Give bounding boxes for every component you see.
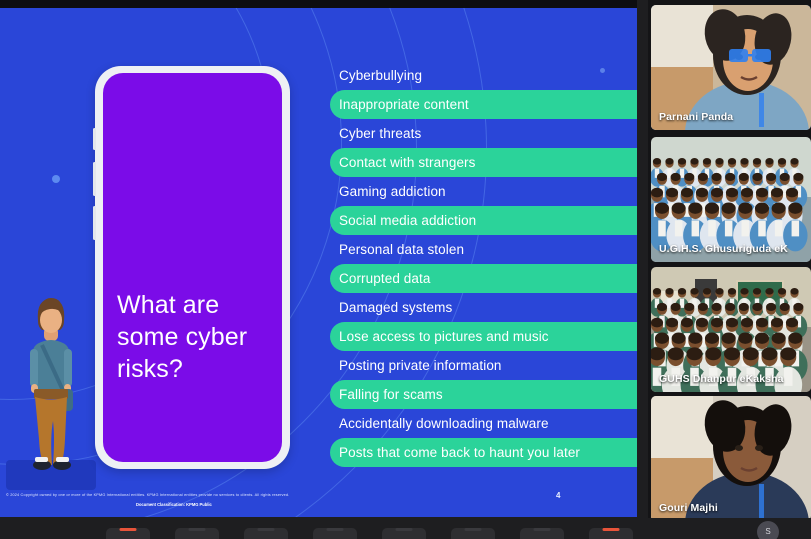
slide-title: What are some cyber risks? (117, 289, 267, 385)
phone-volume-down-button (93, 206, 96, 240)
risk-item: Posting private information (330, 351, 637, 380)
risk-item: Falling for scams (330, 380, 637, 409)
risk-item: Corrupted data (330, 264, 637, 293)
risk-item: Posts that come back to haunt you later (330, 438, 637, 467)
slide-page-number: 4 (556, 491, 560, 500)
slide-footer: © 2024 Copyright owned by one or more of… (0, 490, 637, 517)
toolbar-chat-button[interactable] (382, 528, 426, 539)
decorative-dot (52, 175, 60, 183)
participant-tile[interactable]: U.G.H.S. Ghusuriguda eK (651, 137, 811, 262)
participant-tile[interactable]: Gouri Majhi (651, 396, 811, 521)
student-illustration (22, 285, 80, 470)
participant-tile[interactable]: Parnani Panda (651, 5, 811, 130)
participant-name: Parnani Panda (659, 111, 733, 123)
meeting-toolbar[interactable] (0, 518, 811, 539)
risk-item: Accidentally downloading malware (330, 409, 637, 438)
risk-item: Contact with strangers (330, 148, 637, 177)
risk-item: Social media addiction (330, 206, 637, 235)
phone-volume-up-button (93, 162, 96, 196)
risk-item: Cyberbullying (330, 61, 637, 90)
participant-name: GUHS Dhanpur eKaksha (659, 373, 784, 385)
participant-name: U.G.H.S. Ghusuriguda eK (659, 243, 788, 255)
toolbar-mic-button[interactable] (106, 528, 150, 539)
toolbar-reactions-button[interactable] (451, 528, 495, 539)
risk-item: Lose access to pictures and music (330, 322, 637, 351)
shared-content-stage[interactable]: What are some cyber risks? Cyberbullying… (0, 0, 637, 517)
copyright-text: © 2024 Copyright owned by one or more of… (6, 492, 289, 497)
phone-side-button (93, 128, 96, 150)
toolbar-more-button[interactable] (520, 528, 564, 539)
toolbar-leave-button[interactable] (589, 528, 633, 539)
presentation-slide: What are some cyber risks? Cyberbullying… (0, 8, 637, 517)
meeting-window: What are some cyber risks? Cyberbullying… (0, 0, 811, 539)
cyber-risk-list: CyberbullyingInappropriate contentCyber … (330, 61, 637, 467)
risk-item: Damaged systems (330, 293, 637, 322)
phone-mockup: What are some cyber risks? (95, 66, 290, 469)
participant-tile[interactable]: GUHS Dhanpur eKaksha (651, 267, 811, 392)
risk-item: Cyber threats (330, 119, 637, 148)
participant-video-rail[interactable]: Parnani Panda (648, 0, 811, 518)
risk-item: Inappropriate content (330, 90, 637, 119)
toolbar-camera-button[interactable] (175, 528, 219, 539)
risk-item: Personal data stolen (330, 235, 637, 264)
toolbar-participants-button[interactable] (313, 528, 357, 539)
risk-item: Gaming addiction (330, 177, 637, 206)
toolbar-share-button[interactable] (244, 528, 288, 539)
phone-screen (103, 73, 282, 462)
document-classification-text: Document Classification: KPMG Public (136, 502, 212, 507)
self-avatar-badge[interactable]: S (757, 521, 779, 539)
participant-name: Gouri Majhi (659, 502, 718, 514)
